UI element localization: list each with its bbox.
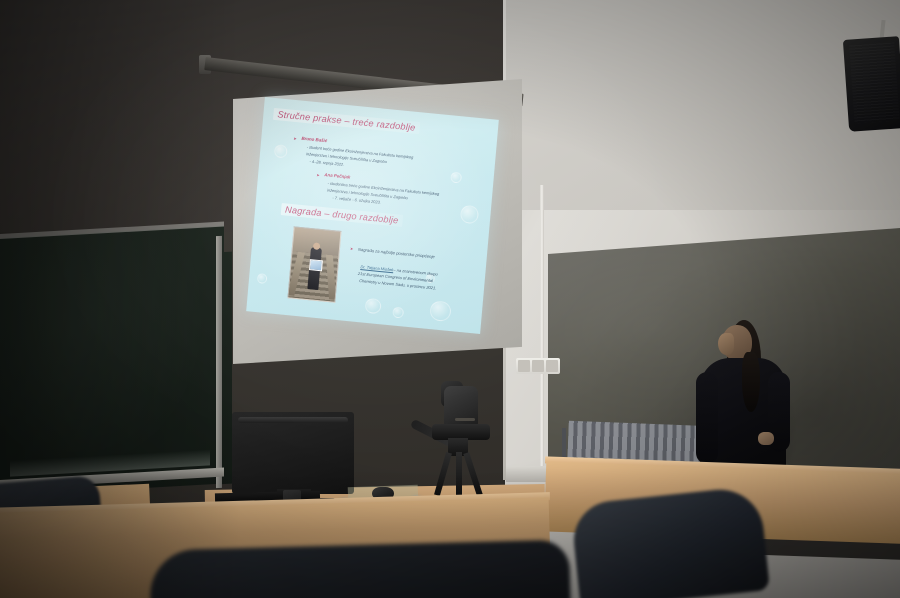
slide-section-title: Nagrada – drugo razdoblje [281,203,403,227]
award-photo [287,226,341,302]
right-wall-upper [505,0,900,210]
person-hand [758,432,774,445]
water-drop-decor [257,273,268,284]
lecture-chair[interactable] [570,485,770,598]
chalkboard-frame-right [216,236,222,488]
person-arm-left [696,372,718,464]
student-detail-1-line-3: - 4.-28. srpnja 2022. [309,160,344,168]
water-drop-decor [429,300,452,322]
wall-power-outlets[interactable] [516,358,560,374]
outlet-socket [546,360,558,372]
wall-speaker-icon [843,36,900,132]
student-name-2: Ana Pečnjak [324,172,350,180]
slide-title: Stručne prakse – treće razdoblje [273,108,420,134]
person-hair-strand [742,352,760,412]
bullet-marker: ➤ [316,172,320,177]
bullet-marker: ➤ [293,136,297,141]
water-drop-decor [364,298,381,315]
water-drop-decor [274,144,288,158]
outlet-socket [532,360,544,372]
computer-monitor[interactable] [232,412,354,494]
water-drop-decor [460,205,479,225]
outlet-socket [518,360,530,372]
tripod-leg [456,452,462,498]
water-drop-decor [392,306,404,318]
student-name-1: Bruno Bašić [301,136,327,144]
certificate-in-photo [309,259,323,271]
wall-riser-pipe [540,185,544,480]
lecture-room-photo: Stručne prakse – treće razdoblje ➤ Bruno… [0,0,900,598]
camera-highlight [455,418,475,421]
award-bullet-text: Nagrada za najbolje postersko priopćenje [358,247,435,260]
lecture-chair[interactable] [149,540,571,598]
person-face [718,333,734,355]
projected-slide: Stručne prakse – treće razdoblje ➤ Bruno… [246,97,499,334]
water-drop-decor [450,171,462,183]
bullet-marker: ➤ [350,246,354,251]
